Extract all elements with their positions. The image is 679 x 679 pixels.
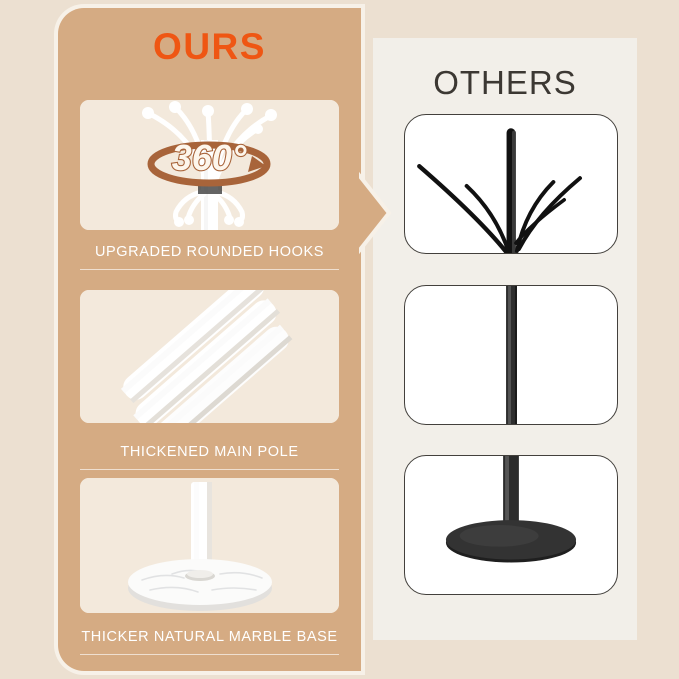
ours-title: OURS bbox=[58, 26, 361, 68]
ours-feature-label-1: UPGRADED ROUNDED HOOKS bbox=[58, 244, 361, 260]
white-marble-base-photo bbox=[80, 478, 339, 613]
ours-cell-pole bbox=[80, 290, 339, 423]
ours-panel: OURS bbox=[58, 8, 361, 671]
black-thin-pole-photo bbox=[405, 286, 617, 424]
others-cell-base bbox=[404, 455, 618, 595]
black-flat-base-photo bbox=[405, 456, 617, 594]
ours-cell-hooks: 360° bbox=[80, 100, 339, 230]
ours-divider-2 bbox=[80, 469, 339, 470]
others-cell-pole bbox=[404, 285, 618, 425]
others-title: OTHERS bbox=[373, 64, 637, 102]
others-panel: OTHERS bbox=[373, 38, 637, 640]
others-cell-hooks bbox=[404, 114, 618, 254]
ours-pointer-arrow-icon bbox=[355, 170, 397, 256]
badge-text: 360° bbox=[172, 137, 247, 178]
white-rounded-hooks-photo: 360° bbox=[80, 100, 339, 230]
ours-divider-3 bbox=[80, 654, 339, 655]
black-thin-hooks-photo bbox=[405, 115, 617, 253]
ours-feature-label-2: THICKENED MAIN POLE bbox=[58, 444, 361, 460]
ours-feature-label-3: THICKER NATURAL MARBLE BASE bbox=[58, 629, 361, 645]
ours-divider-1 bbox=[80, 269, 339, 270]
ours-cell-base bbox=[80, 478, 339, 613]
white-thick-poles-photo bbox=[80, 290, 339, 423]
comparison-infographic: OTHERS bbox=[0, 0, 679, 679]
